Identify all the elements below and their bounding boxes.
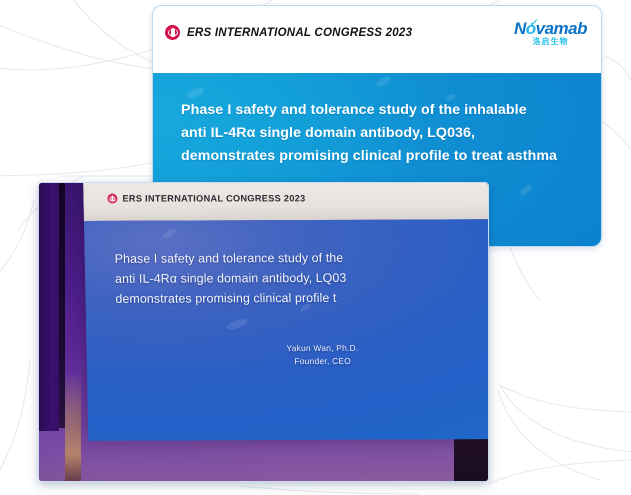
novamab-wordmark: Novamab✓	[514, 20, 587, 37]
ers-brand-lockup: ERS INTERNATIONAL CONGRESS 2023	[165, 25, 412, 40]
hall-pillar-warm-light	[65, 373, 81, 481]
decorative-blob	[374, 74, 391, 88]
novamab-chinese-name: 洛启生物	[532, 38, 568, 46]
ers-lungs-circle-icon	[107, 194, 117, 204]
projected-slide-title: Phase I safety and tolerance study of th…	[114, 248, 347, 309]
slide-header: ERS INTERNATIONAL CONGRESS 2023 Novamab✓…	[153, 6, 601, 73]
decorative-blob	[519, 183, 534, 197]
decorative-blob	[225, 317, 248, 332]
ers-brand-lockup-projected: ERS INTERNATIONAL CONGRESS 2023	[107, 193, 305, 203]
projection-screen: ERS INTERNATIONAL CONGRESS 2023 Phase I …	[83, 182, 489, 441]
slide-title-line-2: anti IL-4Rα single domain antibody, LQ03…	[181, 122, 581, 145]
presenter-name: Yakun Wan, Ph.D.	[286, 342, 358, 355]
slide-title-line-3: demonstrates promising clinical profile …	[181, 145, 581, 168]
projected-title-line-1: Phase I safety and tolerance study of th…	[114, 248, 346, 269]
projected-title-line-2: anti IL-4Rα single domain antibody, LQ03	[115, 268, 347, 289]
projected-slide-header: ERS INTERNATIONAL CONGRESS 2023	[83, 182, 489, 221]
decorative-blob	[162, 227, 178, 240]
novamab-logo: Novamab✓ 洛启生物	[514, 19, 587, 46]
projected-title-line-3: demonstrates promising clinical profile …	[115, 288, 347, 309]
slide-header-row: ERS INTERNATIONAL CONGRESS 2023 Novamab✓…	[153, 6, 601, 46]
projected-congress-label: ERS INTERNATIONAL CONGRESS 2023	[122, 193, 305, 203]
novamab-word-after: vamab	[536, 19, 587, 38]
slide-title-line-1: Phase I safety and tolerance study of th…	[181, 99, 581, 122]
congress-label: ERS INTERNATIONAL CONGRESS 2023	[187, 27, 412, 39]
slide-title: Phase I safety and tolerance study of th…	[181, 99, 581, 168]
projected-slide-body: Phase I safety and tolerance study of th…	[84, 219, 489, 441]
hall-pillar-left	[39, 183, 59, 431]
presenter-role: Founder, CEO	[287, 355, 359, 368]
novamab-word-before: N	[514, 19, 526, 38]
ers-lungs-circle-icon	[165, 25, 180, 40]
novamab-check-icon: ✓	[529, 19, 538, 28]
conference-photo: ERS INTERNATIONAL CONGRESS 2023 Phase I …	[38, 182, 489, 482]
projected-presenter-byline: Yakun Wan, Ph.D. Founder, CEO	[286, 342, 358, 368]
